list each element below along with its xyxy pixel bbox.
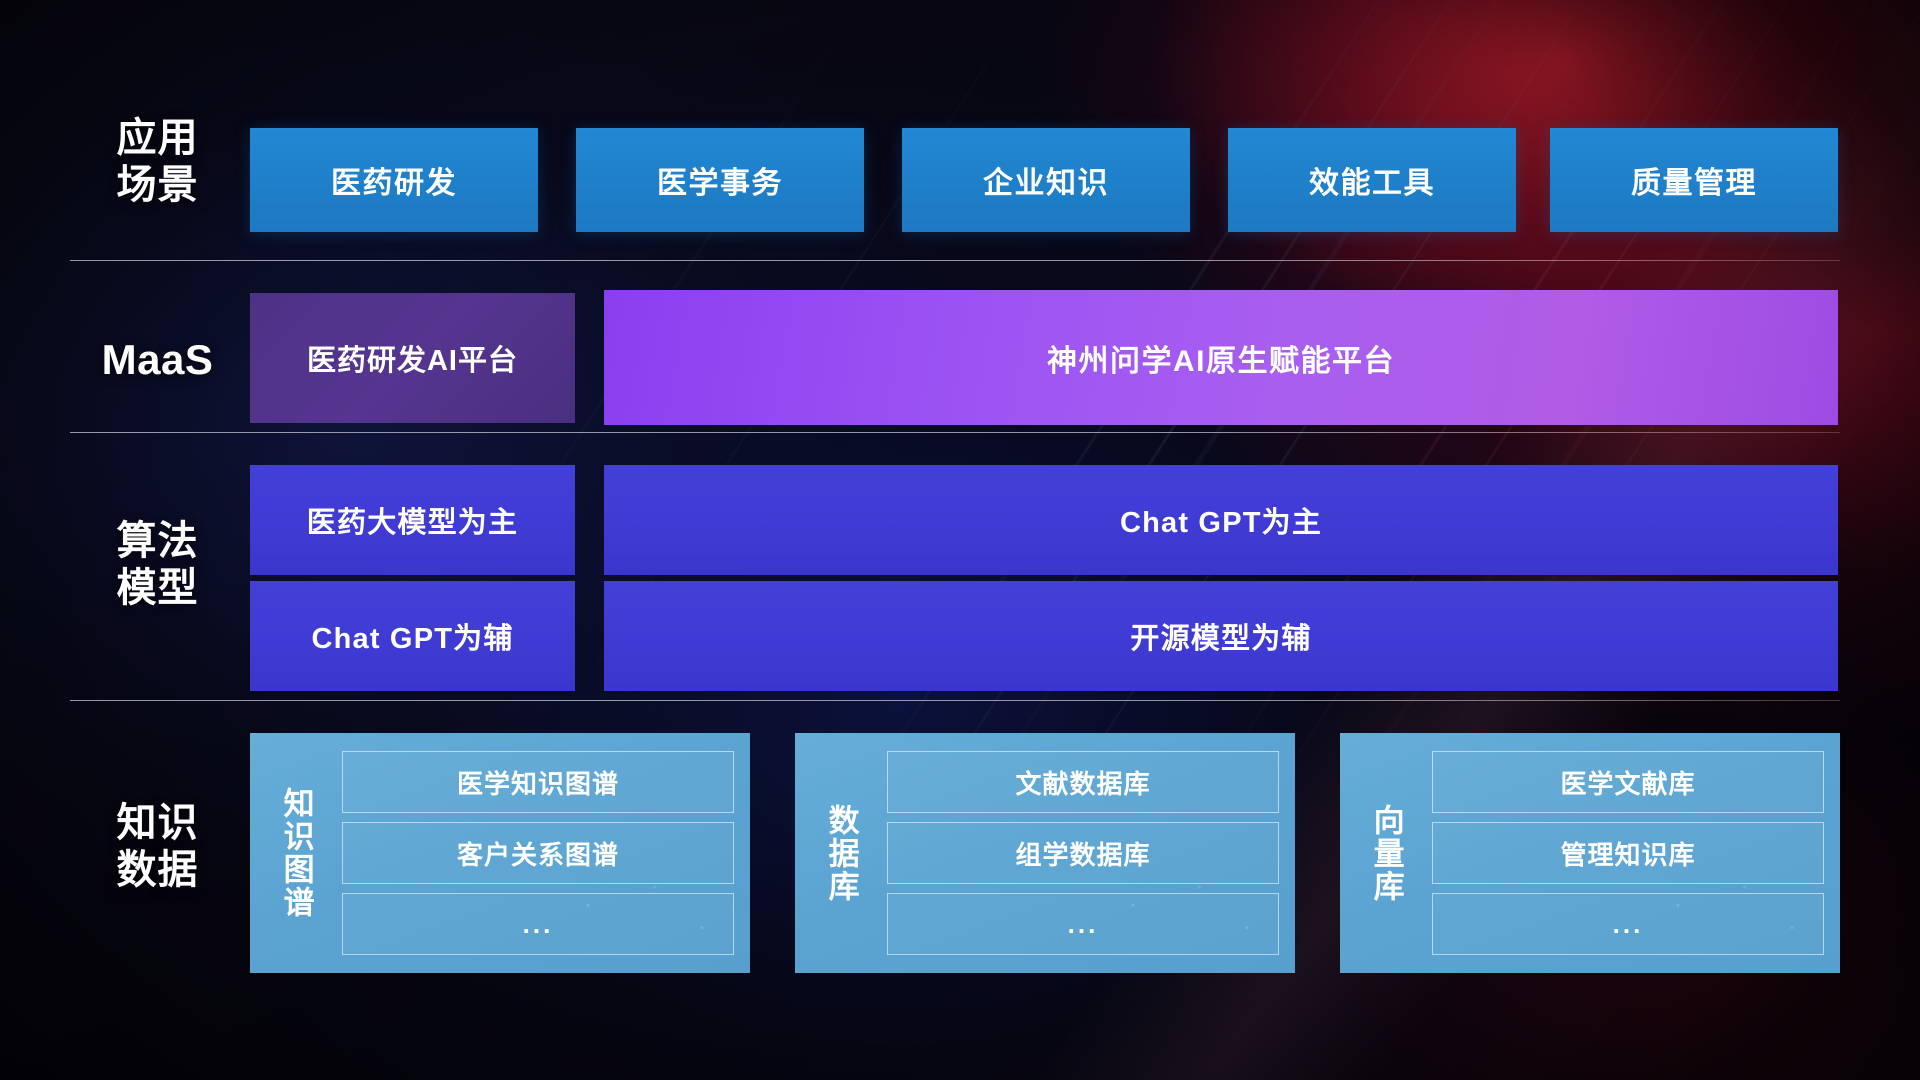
knowledge-card-database[interactable]: 数据库 文献数据库 组学数据库 ... bbox=[795, 733, 1295, 973]
row-label-scenario: 应用 场景 bbox=[70, 115, 245, 209]
row-label-algorithm: 算法 模型 bbox=[70, 518, 245, 612]
knowledge-item[interactable]: 医学知识图谱 bbox=[342, 751, 734, 813]
divider-2 bbox=[70, 432, 1840, 433]
scenario-box-3[interactable]: 企业知识 bbox=[902, 128, 1190, 232]
maas-box-shenzhou-platform[interactable]: 神州问学AI原生赋能平台 bbox=[604, 290, 1838, 425]
knowledge-card-vector[interactable]: 向量库 医学文献库 管理知识库 ... bbox=[1340, 733, 1840, 973]
knowledge-item[interactable]: 管理知识库 bbox=[1432, 822, 1824, 884]
knowledge-item[interactable]: 客户关系图谱 bbox=[342, 822, 734, 884]
knowledge-item-more[interactable]: ... bbox=[342, 893, 734, 955]
scenario-box-4[interactable]: 效能工具 bbox=[1228, 128, 1516, 232]
divider-3 bbox=[70, 700, 1840, 701]
knowledge-card-items: 医学知识图谱 客户关系图谱 ... bbox=[328, 745, 736, 961]
algo-box-opensource-secondary[interactable]: 开源模型为辅 bbox=[604, 581, 1838, 691]
knowledge-card-graph[interactable]: 知识图谱 医学知识图谱 客户关系图谱 ... bbox=[250, 733, 750, 973]
knowledge-card-items: 文献数据库 组学数据库 ... bbox=[873, 745, 1281, 961]
algo-box-chatgpt-primary[interactable]: Chat GPT为主 bbox=[604, 465, 1838, 575]
knowledge-item-more[interactable]: ... bbox=[887, 893, 1279, 955]
divider-1 bbox=[70, 260, 1840, 261]
row-label-maas: MaaS bbox=[70, 335, 245, 385]
knowledge-item[interactable]: 医学文献库 bbox=[1432, 751, 1824, 813]
knowledge-item-more[interactable]: ... bbox=[1432, 893, 1824, 955]
knowledge-card-label: 知识图谱 bbox=[264, 745, 328, 961]
knowledge-card-items: 医学文献库 管理知识库 ... bbox=[1418, 745, 1826, 961]
knowledge-card-label: 数据库 bbox=[809, 745, 873, 961]
scenario-box-5[interactable]: 质量管理 bbox=[1550, 128, 1838, 232]
algo-box-chatgpt-secondary[interactable]: Chat GPT为辅 bbox=[250, 581, 575, 691]
scenario-box-2[interactable]: 医学事务 bbox=[576, 128, 864, 232]
architecture-diagram: 应用 场景 医药研发 医学事务 企业知识 效能工具 质量管理 MaaS 医药研发… bbox=[0, 0, 1920, 1080]
maas-box-pharma-ai-platform[interactable]: 医药研发AI平台 bbox=[250, 293, 575, 423]
algo-box-pharma-llm-primary[interactable]: 医药大模型为主 bbox=[250, 465, 575, 575]
row-label-knowledge: 知识 数据 bbox=[70, 800, 245, 894]
knowledge-card-label: 向量库 bbox=[1354, 745, 1418, 961]
scenario-box-1[interactable]: 医药研发 bbox=[250, 128, 538, 232]
knowledge-item[interactable]: 文献数据库 bbox=[887, 751, 1279, 813]
knowledge-item[interactable]: 组学数据库 bbox=[887, 822, 1279, 884]
